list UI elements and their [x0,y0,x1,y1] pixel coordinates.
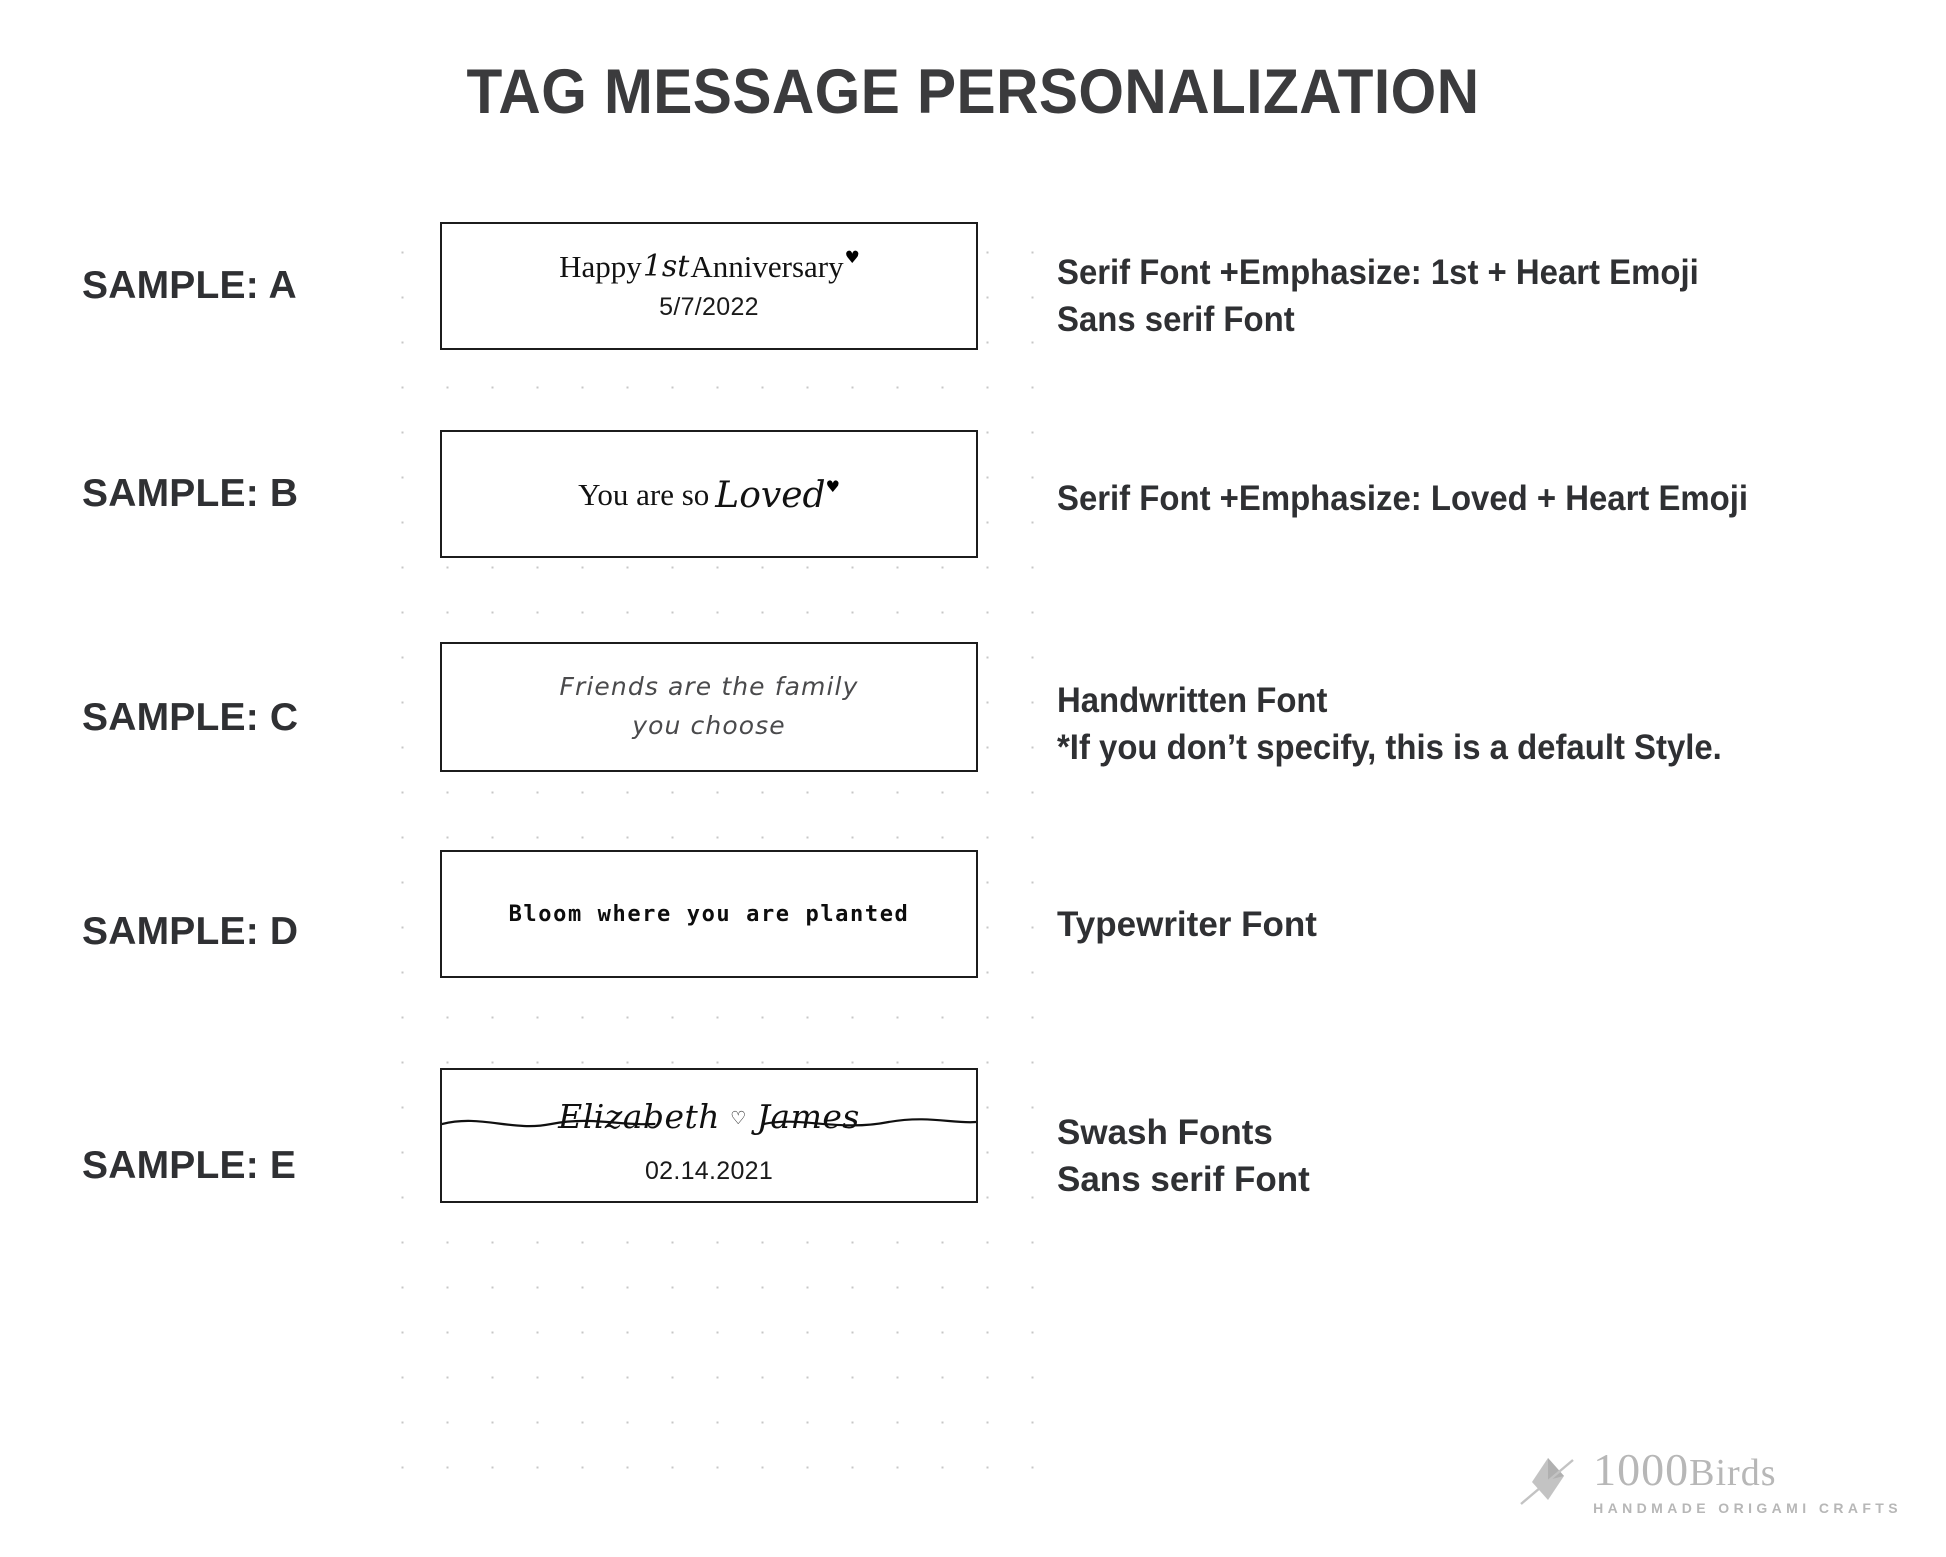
sample-row-a: SAMPLE: A Happy 1stAnniversary♥ 5/7/2022… [0,222,1946,422]
tag-preview-c: Friends are the family you choose [440,642,978,772]
tag-preview-b: You are soLoved♥ [440,430,978,558]
heart-icon: ♥ [845,249,860,268]
page-title: TAG MESSAGE PERSONALIZATION [68,56,1878,128]
tag-d-line1: Bloom where you are planted [509,902,910,927]
logo-tagline: HANDMADE ORIGAMI CRAFTS [1593,1501,1902,1515]
sample-label-e: SAMPLE: E [82,1144,382,1188]
sample-row-d: SAMPLE: D Bloom where you are planted Ty… [0,850,1946,1050]
logo-name-part1: 1000 [1593,1444,1689,1495]
tag-preview-a: Happy 1stAnniversary♥ 5/7/2022 [440,222,978,350]
origami-crane-icon [1517,1450,1579,1512]
tag-b-line1-prefix: You are so [578,478,709,513]
description-a: Serif Font +Emphasize: 1st + Heart Emoji… [1057,250,1837,343]
tag-b-line1: You are soLoved♥ [578,474,840,514]
logo-name-part2: Birds [1689,1452,1776,1494]
logo-name: 1000Birds [1593,1447,1902,1493]
heart-icon: ♥ [826,478,840,496]
sample-label-a: SAMPLE: A [82,264,382,308]
tag-c-line1: Friends are the family [560,668,859,707]
description-b: Serif Font +Emphasize: Loved + Heart Emo… [1057,476,1837,523]
heart-outline-icon: ♡ [730,1108,747,1129]
tag-e-date: 02.14.2021 [645,1157,773,1186]
sample-row-e: SAMPLE: E Elizabeth ♡ James 02.14.2021 S… [0,1068,1946,1268]
tag-c-line2: you choose [632,707,785,746]
tag-e-swash-names: Elizabeth ♡ James [442,1086,976,1148]
tag-a-date: 5/7/2022 [659,293,759,322]
description-c-line2: *If you don’t specify, this is a default… [1057,725,1837,772]
description-a-line2: Sans serif Font [1057,297,1837,344]
tag-preview-d: Bloom where you are planted [440,850,978,978]
tag-a-emphasis: 1st [642,250,691,284]
tag-e-name1: Elizabeth [558,1097,720,1136]
sample-label-d: SAMPLE: D [82,910,382,954]
description-c: Handwritten Font *If you don’t specify, … [1057,678,1837,771]
brand-logo: 1000Birds HANDMADE ORIGAMI CRAFTS [1517,1447,1902,1515]
sample-label-c: SAMPLE: C [82,696,382,740]
sample-row-c: SAMPLE: C Friends are the family you cho… [0,638,1946,838]
sample-row-b: SAMPLE: B You are soLoved♥ Serif Font +E… [0,428,1946,628]
description-a-line1: Serif Font +Emphasize: 1st + Heart Emoji [1057,250,1837,297]
sample-label-b: SAMPLE: B [82,472,382,516]
tag-a-line1: Happy 1stAnniversary♥ [559,250,859,285]
description-e: Swash Fonts Sans serif Font [1057,1110,1887,1203]
description-d: Typewriter Font [1057,902,1887,949]
tag-a-line1-suffix: Anniversary [690,250,843,285]
description-b-line1: Serif Font +Emphasize: Loved + Heart Emo… [1057,476,1837,523]
description-e-line2: Sans serif Font [1057,1157,1887,1204]
description-d-line1: Typewriter Font [1057,902,1887,949]
tag-b-emphasis: Loved [709,476,825,516]
tag-a-line1-prefix: Happy [559,250,642,285]
tag-preview-e: Elizabeth ♡ James 02.14.2021 [440,1068,978,1203]
description-e-line1: Swash Fonts [1057,1110,1887,1157]
description-c-line1: Handwritten Font [1057,678,1837,725]
tag-e-name2: James [757,1097,860,1136]
